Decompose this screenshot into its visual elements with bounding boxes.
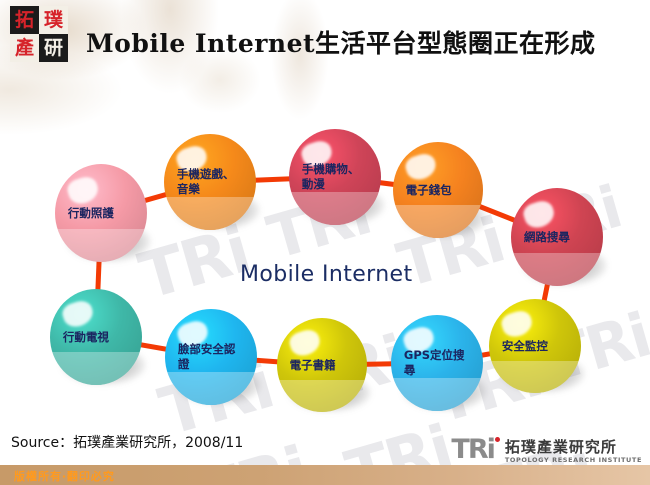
copyright-text: 版權所有‧翻印必究 [14, 468, 115, 484]
bubble-e-book[interactable]: 電子書籍 [277, 318, 367, 412]
bubble-face-auth[interactable]: 臉部安全認 證 [165, 309, 257, 405]
bubble-label: 臉部安全認 證 [178, 309, 250, 405]
bubble-label: GPS定位搜 尋 [404, 315, 476, 411]
source-note: Source：拓璞產業研究所，2008/11 [11, 432, 243, 452]
bubble-label: 安全監控 [502, 299, 574, 393]
bubble-web-search[interactable]: 網路搜尋 [511, 188, 603, 286]
tri-wordmark: TRi [451, 437, 499, 463]
tri-brand-cn: 拓璞產業研究所 [505, 440, 642, 455]
bubble-mobile-care[interactable]: 行動照護 [55, 164, 147, 262]
bubble-label: 電子錢包 [406, 142, 476, 238]
tri-brand-names: 拓璞產業研究所 TOPOLOGY RESEARCH INSTITUTE [505, 440, 642, 464]
bubble-e-wallet[interactable]: 電子錢包 [393, 142, 483, 238]
tri-brand-logo: TRi 拓璞產業研究所 TOPOLOGY RESEARCH INSTITUTE [451, 433, 642, 463]
center-label: Mobile Internet [240, 262, 413, 287]
bubble-label: 網路搜尋 [524, 188, 596, 286]
tri-red-dot [495, 437, 500, 442]
bubble-security-monitor[interactable]: 安全監控 [489, 299, 581, 393]
tri-wordmark-text: TRi [451, 434, 493, 465]
bubble-label: 行動電視 [63, 289, 135, 385]
slide-canvas: TRiTRiTRiTRiTRiTRiTRiTRiTRiTRiTRi 拓 璞 產 … [0, 0, 650, 485]
bubble-label: 手機遊戲、 音樂 [177, 134, 249, 230]
bubble-mobile-tv[interactable]: 行動電視 [50, 289, 142, 385]
tri-brand-en: TOPOLOGY RESEARCH INSTITUTE [505, 457, 642, 464]
bubble-mobile-game-music[interactable]: 手機遊戲、 音樂 [164, 134, 256, 230]
bubble-gps-location[interactable]: GPS定位搜 尋 [391, 315, 483, 411]
bubble-label: 電子書籍 [290, 318, 360, 412]
bubble-mobile-shopping[interactable]: 手機購物、 動漫 [289, 129, 381, 225]
copyright-bar: 版權所有‧翻印必究 [0, 465, 650, 485]
bubble-label: 行動照護 [68, 164, 140, 262]
bubble-label: 手機購物、 動漫 [302, 129, 374, 225]
